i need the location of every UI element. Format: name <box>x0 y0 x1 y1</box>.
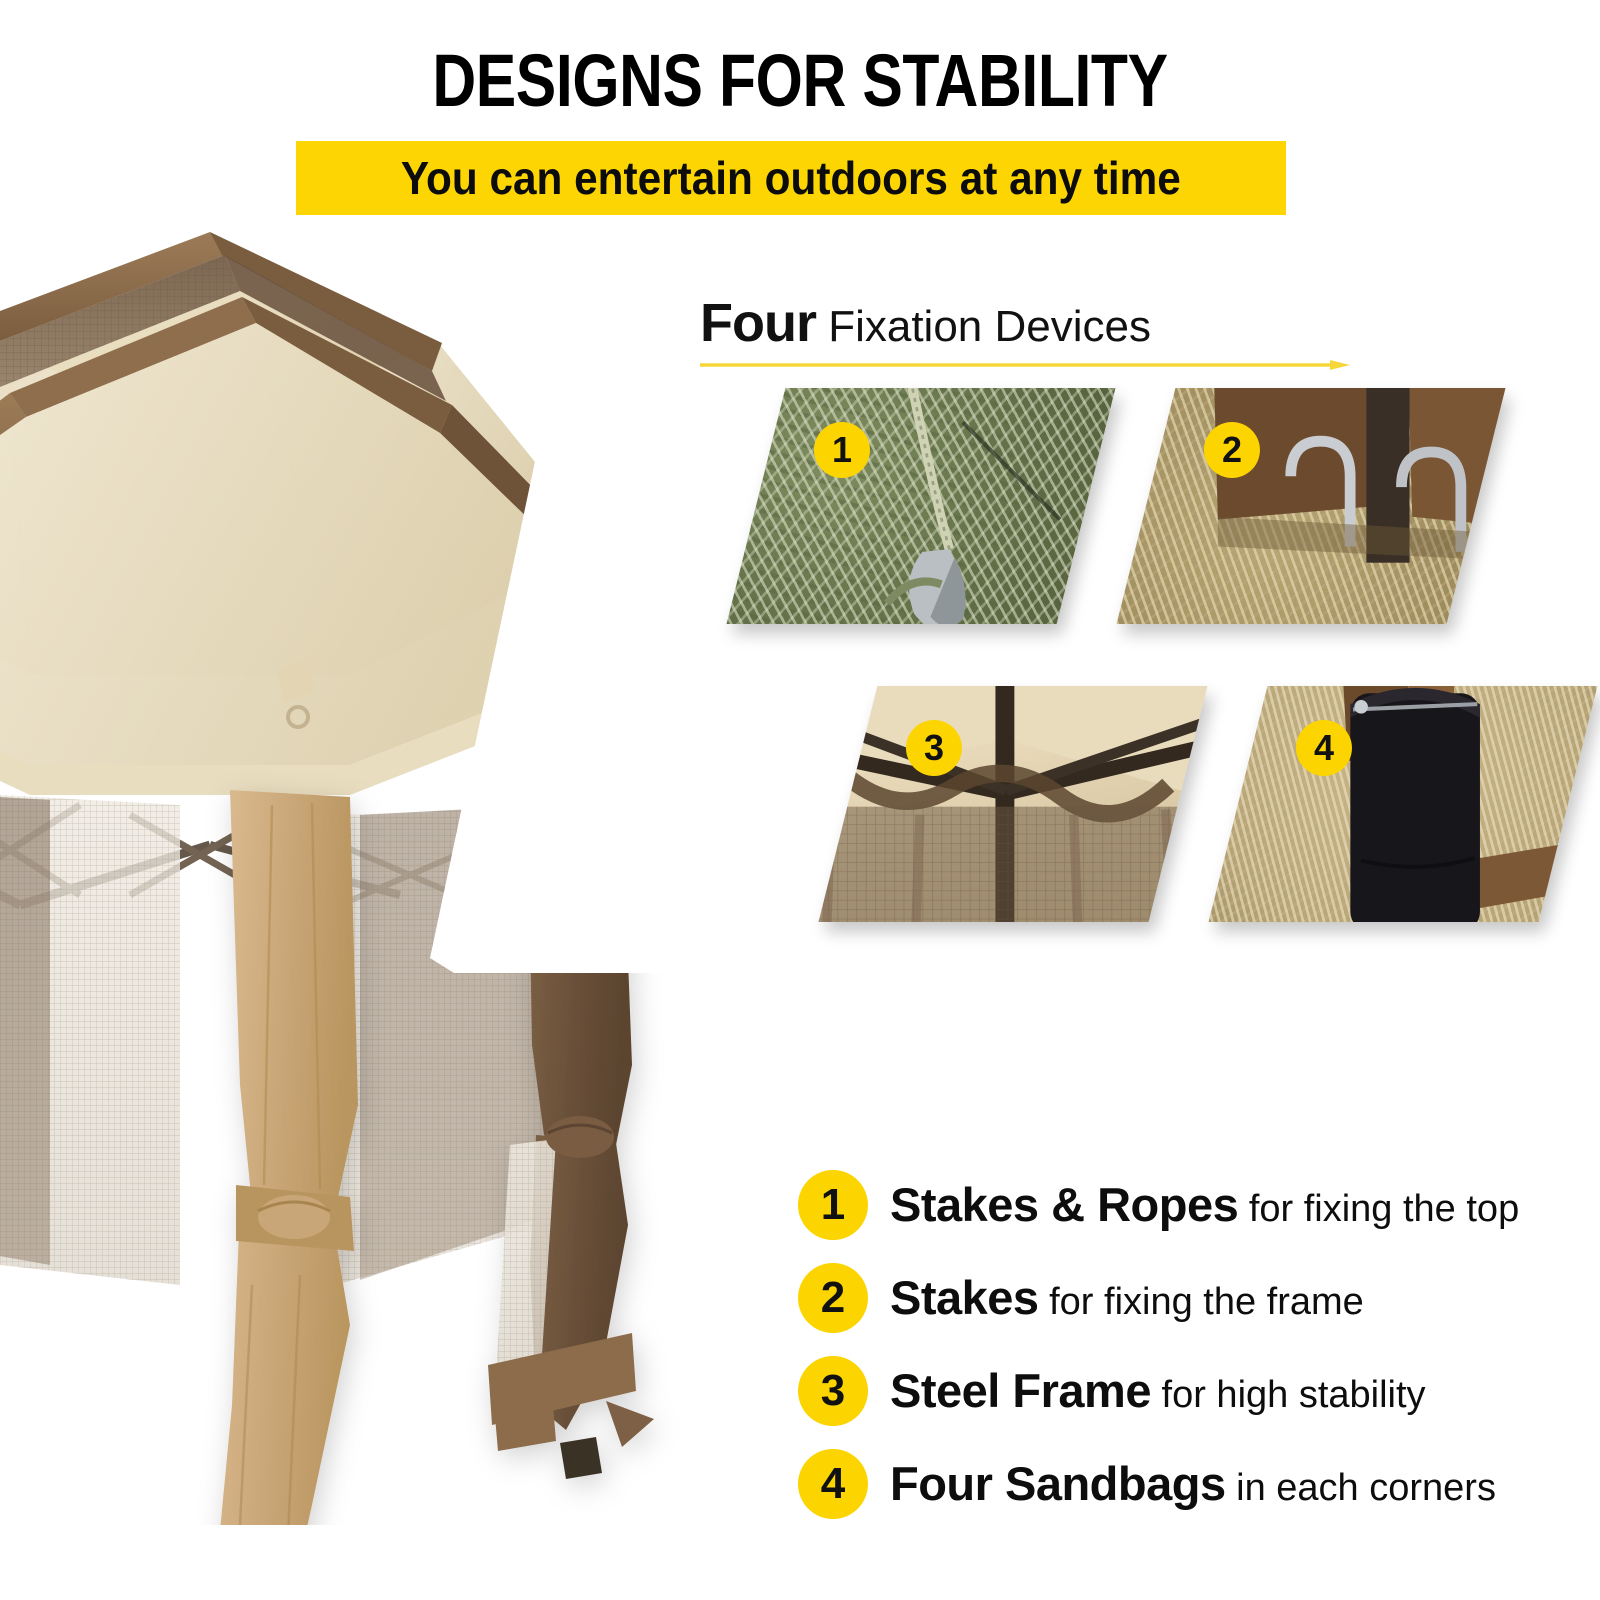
legend-label-1: Stakes & Ropes for fixing the top <box>890 1177 1519 1232</box>
panel-heading-light: Fixation Devices <box>816 302 1151 351</box>
legend-1-strong: Stakes & Ropes <box>890 1178 1238 1231</box>
photo-1-image <box>727 388 1116 624</box>
curtain-tied-left <box>210 790 358 1525</box>
page-title: DESIGNS FOR STABILITY <box>144 38 1456 123</box>
fixation-legend: 1 Stakes & Ropes for fixing the top 2 St… <box>798 1158 1598 1530</box>
legend-label-2: Stakes for fixing the frame <box>890 1270 1364 1325</box>
legend-4-strong: Four Sandbags <box>890 1457 1226 1510</box>
legend-item-4: 4 Four Sandbags in each corners <box>798 1437 1598 1530</box>
subtitle-banner: You can entertain outdoors at any time <box>296 141 1286 215</box>
photo-tile-3: 3 <box>819 686 1208 922</box>
photo-tile-4: 4 <box>1209 686 1598 922</box>
photo-badge-3: 3 <box>906 720 962 776</box>
legend-badge-4: 4 <box>798 1449 868 1519</box>
photo-badge-4: 4 <box>1296 720 1352 776</box>
photo-4-image <box>1209 686 1598 922</box>
photo-tile-2: 2 <box>1117 388 1506 624</box>
legend-2-strong: Stakes <box>890 1271 1039 1324</box>
legend-badge-3: 3 <box>798 1356 868 1426</box>
photo-3-image <box>819 686 1208 922</box>
photo-2-image <box>1117 388 1506 624</box>
panel-heading-strong: Four <box>700 293 816 353</box>
legend-2-light: for fixing the frame <box>1039 1281 1364 1323</box>
panel-heading: Four Fixation Devices <box>700 292 1151 354</box>
legend-item-2: 2 Stakes for fixing the frame <box>798 1251 1598 1344</box>
legend-label-3: Steel Frame for high stability <box>890 1363 1426 1418</box>
legend-3-light: for high stability <box>1151 1374 1426 1416</box>
legend-4-light: in each corners <box>1226 1467 1496 1509</box>
legend-badge-2: 2 <box>798 1263 868 1333</box>
legend-item-1: 1 Stakes & Ropes for fixing the top <box>798 1158 1598 1251</box>
subtitle-text: You can entertain outdoors at any time <box>401 151 1181 205</box>
photo-badge-2: 2 <box>1204 422 1260 478</box>
legend-label-4: Four Sandbags in each corners <box>890 1456 1496 1511</box>
legend-item-3: 3 Steel Frame for high stability <box>798 1344 1598 1437</box>
legend-3-strong: Steel Frame <box>890 1364 1151 1417</box>
arrow-right-icon <box>700 360 1350 370</box>
photo-badge-1: 1 <box>814 422 870 478</box>
legend-1-light: for fixing the top <box>1238 1188 1519 1230</box>
legend-badge-1: 1 <box>798 1170 868 1240</box>
photo-tile-1: 1 <box>727 388 1116 624</box>
